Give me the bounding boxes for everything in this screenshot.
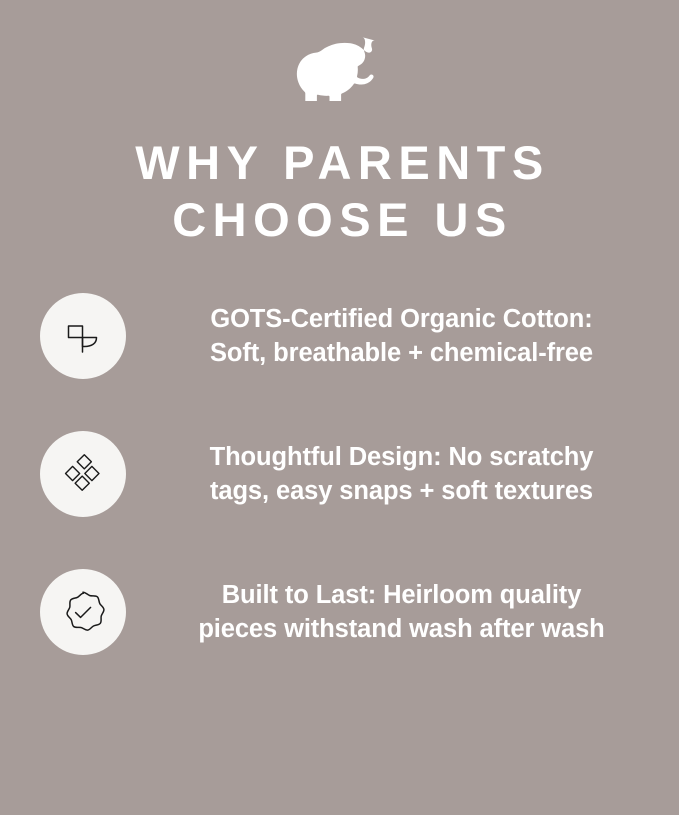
- feature-line-2: pieces withstand wash after wash: [142, 612, 661, 646]
- feature-line-2: Soft, breathable + chemical-free: [142, 336, 661, 370]
- headline-line-2: CHOOSE US: [6, 191, 679, 248]
- feature-line-1: GOTS-Certified Organic Cotton:: [142, 302, 661, 336]
- feature-text-thoughtful-design: Thoughtful Design: No scratchy tags, eas…: [126, 440, 661, 508]
- feature-text-organic-cotton: GOTS-Certified Organic Cotton: Soft, bre…: [126, 302, 661, 370]
- feature-icon-circle: [40, 293, 126, 379]
- feature-line-2: tags, easy snaps + soft textures: [142, 474, 661, 508]
- feature-item-built-to-last: Built to Last: Heirloom quality pieces w…: [0, 569, 679, 655]
- page-title: WHY PARENTS CHOOSE US: [0, 134, 679, 249]
- feature-item-organic-cotton: GOTS-Certified Organic Cotton: Soft, bre…: [0, 293, 679, 379]
- feature-icon-circle: [40, 569, 126, 655]
- feature-line-1: Thoughtful Design: No scratchy: [142, 440, 661, 474]
- verified-badge-check-icon: [59, 588, 107, 636]
- feature-icon-circle: [40, 431, 126, 517]
- four-diamonds-icon: [60, 451, 106, 497]
- feature-line-1: Built to Last: Heirloom quality: [142, 578, 661, 612]
- why-parents-choose-us-panel: WHY PARENTS CHOOSE US GOTS-Certifie: [0, 0, 679, 815]
- feature-text-built-to-last: Built to Last: Heirloom quality pieces w…: [126, 578, 661, 646]
- feature-list: GOTS-Certified Organic Cotton: Soft, bre…: [0, 293, 679, 655]
- feature-item-thoughtful-design: Thoughtful Design: No scratchy tags, eas…: [0, 431, 679, 517]
- sprout-leaf-icon: [60, 313, 106, 359]
- brand-logo: [290, 36, 390, 102]
- elephant-icon: [292, 37, 388, 101]
- headline-line-1: WHY PARENTS: [6, 134, 679, 191]
